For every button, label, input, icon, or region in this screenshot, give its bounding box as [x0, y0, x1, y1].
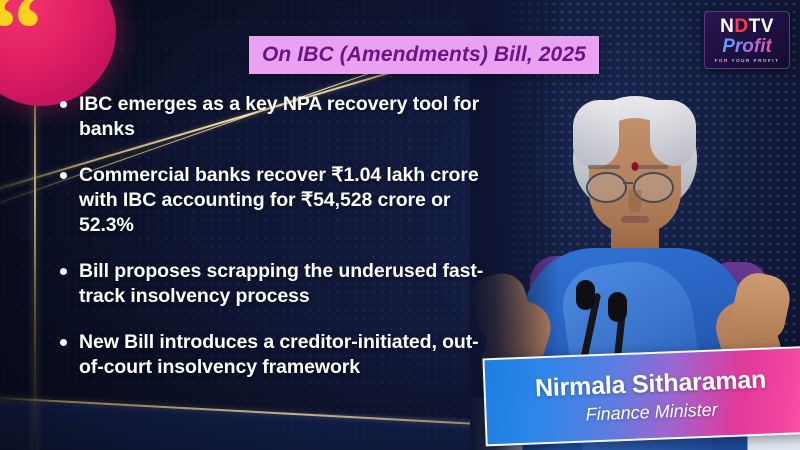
bullet-dot-icon [60, 339, 67, 346]
ndtv-profit-logo: NDTV Profit FOR YOUR PROFIT [704, 11, 790, 69]
logo-accent-letter: D [734, 16, 748, 37]
speaker-name-banner: Nirmala Sitharaman Finance Minister [482, 346, 800, 447]
title-banner: On IBC (Amendments) Bill, 2025 [249, 36, 599, 74]
speaker-bindi [632, 162, 639, 171]
speaker-hair-right [650, 100, 696, 166]
speaker-eyebrow-left [588, 165, 620, 169]
speaker-designation: Finance Minister [585, 399, 718, 425]
list-item: Bill proposes scrapping the underused fa… [60, 259, 500, 309]
bullet-list: IBC emerges as a key NPA recovery tool f… [60, 92, 500, 401]
microphone-head-1 [576, 280, 595, 310]
bullet-dot-icon [60, 101, 67, 108]
bullet-text: Bill proposes scrapping the underused fa… [79, 259, 500, 309]
speaker-eyeglass-left [586, 172, 627, 203]
bullet-dot-icon [60, 268, 67, 275]
speaker-nose [629, 190, 642, 212]
news-graphic-card: “ On IBC (Amendments) Bill, 2025 IBC eme… [0, 0, 800, 450]
bullet-text: New Bill introduces a creditor-initiated… [79, 330, 500, 380]
speaker-hair-left [573, 100, 619, 168]
list-item: IBC emerges as a key NPA recovery tool f… [60, 92, 500, 142]
speaker-name: Nirmala Sitharaman [534, 365, 766, 403]
logo-wordmark-profit: Profit [722, 37, 772, 57]
list-item: New Bill introduces a creditor-initiated… [60, 330, 500, 380]
speaker-mouth [621, 216, 649, 223]
speaker-eyebrow-right [636, 165, 668, 169]
page-title: On IBC (Amendments) Bill, 2025 [262, 43, 586, 67]
microphone-head-2 [608, 292, 627, 322]
quote-mark-icon: “ [0, 0, 42, 86]
bullet-text: Commercial banks recover ₹1.04 lakh cror… [79, 163, 500, 238]
list-item: Commercial banks recover ₹1.04 lakh cror… [60, 163, 500, 238]
bullet-dot-icon [60, 172, 67, 179]
logo-wordmark-ndtv: NDTV [720, 17, 774, 36]
speaker-eyeglass-bridge [623, 182, 633, 184]
bullet-text: IBC emerges as a key NPA recovery tool f… [79, 92, 500, 142]
logo-tagline: FOR YOUR PROFIT [715, 58, 780, 63]
